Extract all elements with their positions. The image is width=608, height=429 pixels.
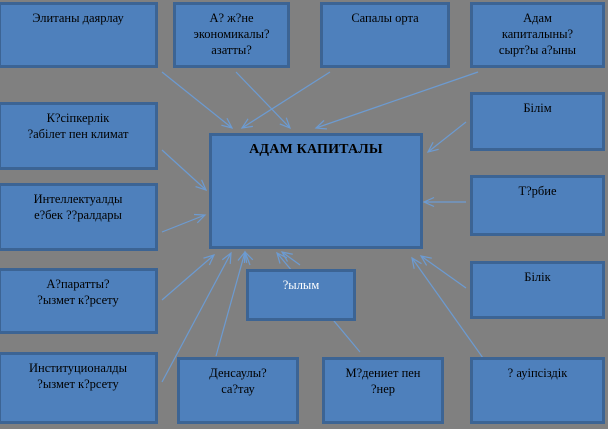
node-center-human-capital[interactable]: АДАМ КАПИТАЛЫ	[209, 133, 423, 249]
node-freedom[interactable]: А? ж?не экономикалы? азатты?	[173, 2, 290, 68]
node-elite[interactable]: Элитаны даярлау	[0, 2, 158, 68]
arrow-elite	[162, 72, 232, 128]
node-label: Адам капиталыны? сырт?ы а?ыны	[499, 10, 576, 58]
node-education[interactable]: Білім	[470, 92, 605, 151]
node-skill[interactable]: Білік	[470, 261, 605, 319]
arrow-information-service	[162, 255, 214, 300]
node-entrepreneurship[interactable]: К?сіпкерлік ?абілет пен климат	[0, 102, 158, 170]
arrow-freedom	[236, 72, 290, 128]
arrow-quality-env	[242, 72, 330, 128]
node-label: Білік	[524, 269, 550, 285]
arrow-skill	[421, 256, 466, 288]
diagram-canvas: Элитаны даярлау А? ж?не экономикалы? аза…	[0, 0, 608, 429]
node-label: Интеллектуалды е?бек ??ралдары	[34, 191, 123, 223]
node-label: М?дениет пен ?нер	[345, 365, 420, 397]
node-quality-environment[interactable]: Сапалы орта	[320, 2, 450, 68]
node-label: К?сіпкерлік ?абілет пен климат	[28, 110, 129, 142]
arrow-upbringing	[424, 198, 466, 207]
arrow-health	[216, 252, 247, 356]
node-label: Т?рбие	[518, 183, 556, 199]
node-label: Денсаулы? са?тау	[209, 365, 266, 397]
arrow-external-flow	[316, 72, 478, 129]
arrow-science-right	[282, 252, 300, 265]
node-external-flow[interactable]: Адам капиталыны? сырт?ы а?ыны	[470, 2, 605, 68]
node-security[interactable]: ? ауіпсіздік	[470, 357, 605, 424]
node-label: Білім	[523, 100, 551, 116]
arrow-education	[428, 122, 466, 152]
node-science[interactable]: ?ылым	[246, 269, 356, 321]
node-label: Институционалды ?ызмет к?рсету	[29, 360, 127, 392]
node-information-service[interactable]: А?паратты? ?ызмет к?рсету	[0, 268, 158, 334]
arrow-entrepreneurship	[162, 150, 206, 190]
node-label: Сапалы орта	[351, 10, 418, 26]
node-label: АДАМ КАПИТАЛЫ	[249, 141, 383, 159]
node-label: А?паратты? ?ызмет к?рсету	[37, 276, 118, 308]
arrow-science-left	[244, 252, 252, 265]
node-culture-art[interactable]: М?дениет пен ?нер	[322, 357, 444, 424]
node-upbringing[interactable]: Т?рбие	[470, 175, 605, 236]
node-label: А? ж?не экономикалы? азатты?	[193, 10, 269, 58]
arrow-intellectual-labour	[162, 215, 205, 232]
node-label: ? ауіпсіздік	[508, 365, 568, 381]
node-institutional-service[interactable]: Институционалды ?ызмет к?рсету	[0, 352, 158, 424]
node-health[interactable]: Денсаулы? са?тау	[177, 357, 299, 424]
node-intellectual-labour[interactable]: Интеллектуалды е?бек ??ралдары	[0, 183, 158, 251]
node-label: ?ылым	[283, 277, 320, 293]
node-label: Элитаны даярлау	[32, 10, 124, 26]
